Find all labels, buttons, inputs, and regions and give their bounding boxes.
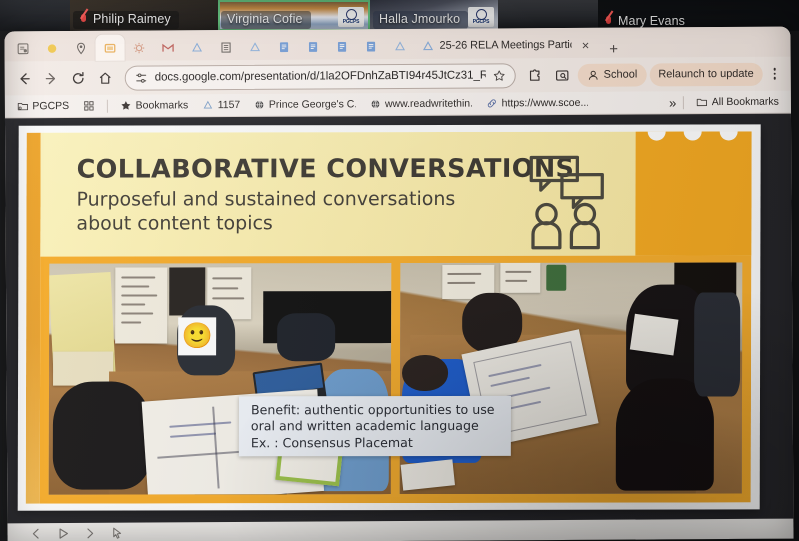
extensions-button[interactable]	[524, 63, 548, 87]
tab-map-pin-icon[interactable]	[66, 35, 95, 61]
wall-poster	[53, 352, 113, 386]
bookmarks-overflow-area: » All Bookmarks	[669, 94, 784, 110]
participant-name-row: Philip Raimey	[73, 11, 179, 29]
arrow-left-icon	[16, 71, 31, 86]
bookmark-1157[interactable]: 1157	[197, 98, 245, 112]
globe-icon	[370, 98, 381, 110]
drive-icon	[191, 41, 204, 54]
star-icon	[120, 100, 132, 112]
participant-name: Mary Evans	[618, 14, 685, 28]
play-icon[interactable]	[56, 527, 69, 540]
puzzle-icon	[528, 68, 543, 83]
arrow-right-icon	[43, 71, 58, 86]
bookmark-label: https://www.scoe...	[502, 97, 589, 110]
mic-muted-icon	[604, 15, 614, 28]
tab-drive-icon[interactable]	[240, 34, 269, 60]
drive-icon	[249, 40, 262, 53]
student-figure	[53, 381, 151, 489]
tab-circle-icon[interactable]	[37, 35, 66, 61]
docs-icon	[365, 40, 378, 53]
drive-icon	[202, 99, 214, 111]
tab-sheets-icon[interactable]	[211, 34, 240, 60]
student-figure	[694, 292, 740, 396]
slide-left-accent-bar	[26, 133, 41, 504]
close-icon[interactable]: ×	[576, 36, 594, 54]
tab-docs-icon[interactable]	[269, 34, 298, 60]
link-icon	[486, 97, 498, 109]
form-icon	[17, 42, 30, 55]
wall-poster	[115, 267, 167, 343]
divider	[683, 96, 684, 109]
pointer-icon[interactable]	[110, 526, 123, 539]
wall-poster	[500, 263, 540, 293]
back-button[interactable]	[12, 66, 36, 90]
slide-photos-row: 🙂	[40, 255, 752, 503]
forward-button[interactable]	[39, 66, 63, 90]
privacy-emoji-overlay: 🙂	[178, 317, 216, 355]
screen-photograph: Philip Raimey Virginia Cofie PGCPS Halla…	[0, 0, 799, 541]
drive-icon	[421, 39, 434, 52]
student-figure	[277, 313, 335, 361]
profile-chip[interactable]: School	[578, 63, 647, 86]
folder-icon	[17, 100, 29, 112]
benefit-callout-box: Benefit: authentic opportunities to use …	[239, 396, 511, 456]
callout-line-3: Ex. : Consensus Placemat	[251, 435, 502, 452]
slide-canvas: COLLABORATIVE CONVERSATIONS Purposeful a…	[26, 131, 752, 503]
docs-icon	[278, 40, 291, 53]
divider	[107, 99, 108, 112]
profile-chip-label: School	[604, 69, 638, 81]
pgcps-seal-icon	[346, 9, 357, 20]
bookmark-label: 1157	[218, 99, 241, 111]
browser-menu-button[interactable]	[766, 63, 784, 85]
bookmark-label: Bookmarks	[136, 99, 189, 111]
tab-search-button[interactable]	[551, 63, 575, 87]
apps-grid-icon	[83, 100, 95, 112]
tab-form-icon[interactable]	[8, 35, 37, 61]
pgcps-logo: PGCPS	[468, 7, 494, 27]
participant-name: Virginia Cofie	[227, 12, 303, 26]
bookmark-prince-georges[interactable]: Prince George's C...	[249, 97, 361, 112]
next-slide-icon[interactable]	[83, 526, 96, 539]
tab-docs-icon[interactable]	[298, 33, 327, 59]
drive-icon	[394, 39, 407, 52]
tab-search-icon	[555, 67, 570, 82]
relaunch-label: Relaunch to update	[658, 68, 753, 81]
participant-tile-virginia-cofie[interactable]: Virginia Cofie PGCPS	[218, 0, 370, 31]
participant-name-row: Virginia Cofie	[221, 11, 311, 29]
bookmark-readwritethink[interactable]: www.readwritethin...	[365, 97, 477, 112]
pin-dot-icon	[720, 131, 738, 140]
folder-icon	[696, 96, 708, 108]
two-people-speech-bubbles-icon	[523, 146, 619, 250]
relaunch-to-update-button[interactable]: Relaunch to update	[649, 62, 763, 86]
pin-dot-icon	[648, 131, 666, 140]
gmail-icon	[162, 41, 175, 54]
callout-line-2: oral and written academic language	[251, 418, 502, 435]
students-collaborating-right-photo	[400, 262, 743, 494]
active-tab-title: 25-26 RELA Meetings Partic	[440, 39, 572, 52]
all-bookmarks-label: All Bookmarks	[712, 96, 779, 108]
bookmark-scoe[interactable]: https://www.scoe...	[481, 96, 593, 111]
map-pin-icon	[75, 41, 88, 54]
participant-name: Halla Jmourko	[379, 12, 460, 26]
slide-header-band: COLLABORATIVE CONVERSATIONS Purposeful a…	[40, 131, 751, 256]
participant-tile[interactable]	[498, 0, 598, 31]
pin-dot-icon	[684, 131, 702, 140]
star-icon[interactable]	[493, 69, 506, 82]
tab-strip: 25-26 RELA Meetings Partic × +	[4, 27, 790, 62]
home-icon	[97, 70, 112, 85]
slides-icon	[104, 41, 117, 54]
paper-sheet	[630, 314, 679, 356]
bookmark-bookmarks[interactable]: Bookmarks	[115, 98, 193, 112]
bookmark-label: www.readwritethin...	[385, 98, 472, 111]
slide-subtitle: Purposeful and sustained conversations a…	[76, 187, 506, 236]
avatar-icon	[587, 68, 600, 81]
bookmark-pgcps[interactable]: PGCPS	[12, 99, 74, 113]
tab-docs-icon[interactable]	[327, 33, 356, 59]
slides-presentation-viewport[interactable]: COLLABORATIVE CONVERSATIONS Purposeful a…	[5, 114, 794, 541]
docs-icon	[336, 40, 349, 53]
participant-tile-halla-jmourko[interactable]: Halla Jmourko PGCPS	[370, 0, 498, 31]
tab-gear-icon[interactable]	[124, 34, 153, 60]
bookmark-label: Prince George's C...	[269, 98, 356, 111]
browser-toolbar: docs.google.com/presentation/d/1la2OFDnh…	[5, 57, 791, 96]
url-text: docs.google.com/presentation/d/1la2OFDnh…	[155, 69, 486, 83]
kebab-dot	[773, 68, 775, 70]
slide-frame: COLLABORATIVE CONVERSATIONS Purposeful a…	[18, 124, 761, 510]
slide-header-orange-block	[635, 131, 751, 255]
new-tab-button[interactable]: +	[605, 40, 623, 58]
pgcps-logo: PGCPS	[338, 7, 364, 27]
participant-tile-philip-raimey[interactable]: Philip Raimey	[70, 0, 218, 31]
bookmark-label: PGCPS	[32, 100, 69, 112]
paper-sheet	[401, 459, 455, 490]
address-bar[interactable]: docs.google.com/presentation/d/1la2OFDnh…	[125, 63, 516, 90]
docs-icon	[307, 40, 320, 53]
tab-drive-icon[interactable]	[385, 33, 414, 59]
students-collaborating-left-photo: 🙂	[49, 263, 392, 495]
participant-tile[interactable]	[0, 0, 70, 31]
circle-icon	[46, 42, 59, 55]
tab-docs-icon[interactable]	[356, 33, 385, 59]
prev-slide-icon[interactable]	[29, 527, 42, 540]
kebab-dot	[774, 77, 776, 79]
pgcps-seal-icon	[476, 9, 487, 20]
sheets-icon	[220, 41, 233, 54]
mic-muted-icon	[79, 13, 89, 26]
presenter-control-bar	[7, 519, 793, 541]
reload-icon	[70, 70, 85, 85]
bookmark-apps-grid[interactable]	[78, 99, 100, 113]
gear-icon	[133, 41, 146, 54]
callout-line-1: Benefit: authentic opportunities to use	[251, 402, 502, 419]
tab-slides-icon[interactable]	[95, 35, 124, 61]
reload-button[interactable]	[66, 66, 90, 90]
tab-drive-icon[interactable]	[182, 34, 211, 60]
bookmarks-overflow-button[interactable]: »	[669, 95, 676, 110]
student-figure	[402, 355, 448, 391]
participant-name-row: Halla Jmourko	[373, 11, 468, 29]
home-button[interactable]	[93, 66, 117, 90]
tab-gmail-icon[interactable]	[153, 34, 182, 60]
globe-icon	[254, 99, 265, 111]
chrome-browser-window: 25-26 RELA Meetings Partic × +	[4, 27, 793, 541]
tune-icon[interactable]	[135, 71, 148, 84]
kebab-dot	[774, 72, 776, 74]
slide-title: COLLABORATIVE CONVERSATIONS	[77, 154, 575, 185]
active-tab[interactable]: 25-26 RELA Meetings Partic ×	[414, 32, 598, 59]
all-bookmarks-button[interactable]: All Bookmarks	[691, 95, 784, 110]
green-bin	[546, 265, 566, 291]
participant-name: Philip Raimey	[93, 12, 171, 26]
